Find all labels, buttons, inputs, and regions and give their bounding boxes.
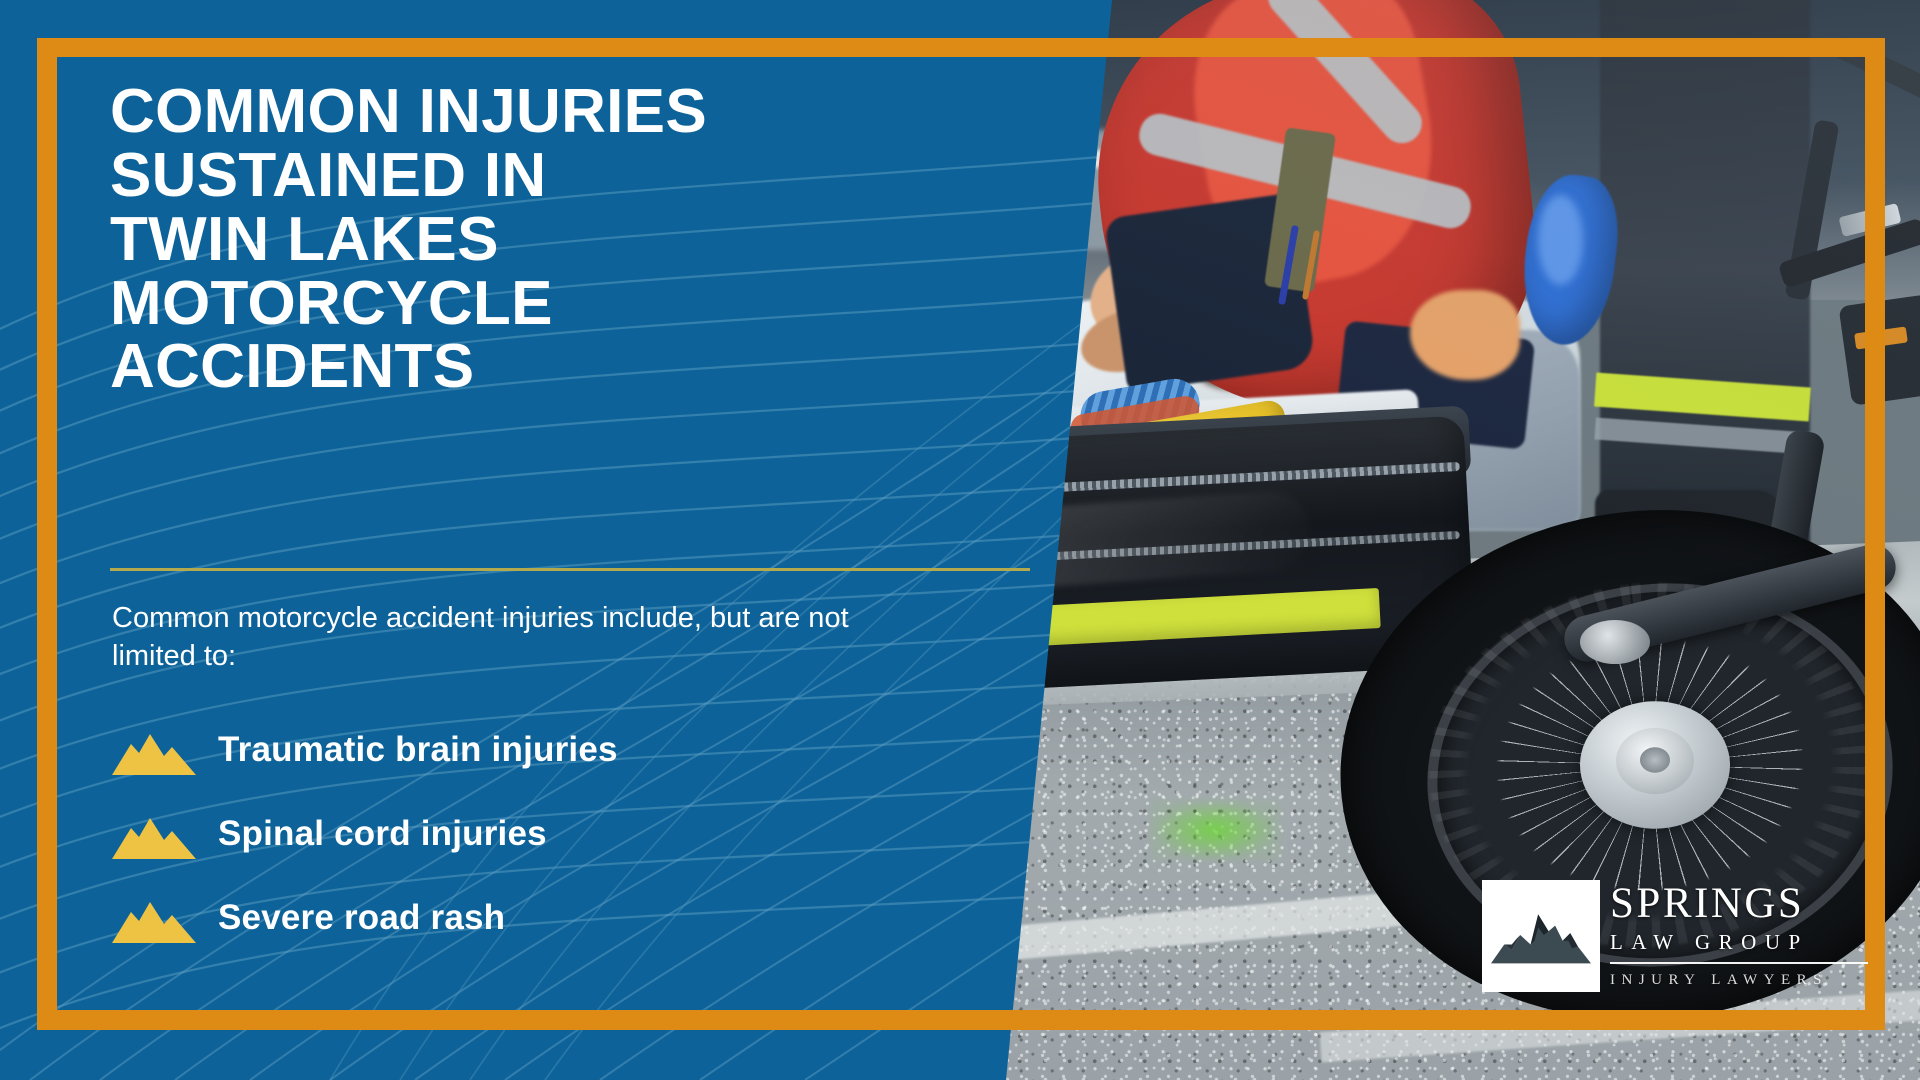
logo-wordmark: SPRINGS LAW GROUP INJURY LAWYERS — [1610, 882, 1880, 988]
list-item: Severe road rash — [112, 876, 972, 960]
list-item-label: Traumatic brain injuries — [218, 730, 618, 770]
headline-line-4: MOTORCYCLE — [110, 269, 553, 338]
logo-divider — [1610, 962, 1868, 964]
list-item: Spinal cord injuries — [112, 792, 972, 876]
headline-line-1: COMMON INJURIES — [110, 77, 707, 146]
logo-subname: LAW GROUP — [1610, 932, 1880, 953]
headline-line-3: TWIN LAKES — [110, 205, 499, 274]
logo-mark-box — [1482, 880, 1600, 992]
injury-list: Traumatic brain injuries Spinal cord inj… — [112, 708, 972, 960]
springs-law-group-logo: SPRINGS LAW GROUP INJURY LAWYERS — [1482, 880, 1882, 1010]
page-title: COMMON INJURIES SUSTAINED IN TWIN LAKES … — [110, 80, 960, 399]
list-item-label: Spinal cord injuries — [218, 814, 547, 854]
headline-line-2: SUSTAINED IN — [110, 141, 546, 210]
infographic-banner: COMMON INJURIES SUSTAINED IN TWIN LAKES … — [0, 0, 1920, 1080]
mountain-logo-icon — [1489, 903, 1593, 969]
mountain-icon — [112, 893, 196, 943]
headline-line-5: ACCIDENTS — [110, 332, 474, 401]
gold-divider-rule — [110, 568, 1030, 571]
subtitle-text: Common motorcycle accident injuries incl… — [112, 600, 902, 675]
list-item-label: Severe road rash — [218, 898, 505, 938]
border-frame-bottom — [37, 1010, 1885, 1030]
list-item: Traumatic brain injuries — [112, 708, 972, 792]
mountain-icon — [112, 809, 196, 859]
logo-name: SPRINGS — [1610, 882, 1880, 925]
headline-block: COMMON INJURIES SUSTAINED IN TWIN LAKES … — [110, 80, 960, 399]
border-frame-left — [37, 38, 57, 1030]
border-frame-top — [37, 38, 1885, 57]
mountain-icon — [112, 725, 196, 775]
logo-tagline: INJURY LAWYERS — [1610, 973, 1880, 988]
